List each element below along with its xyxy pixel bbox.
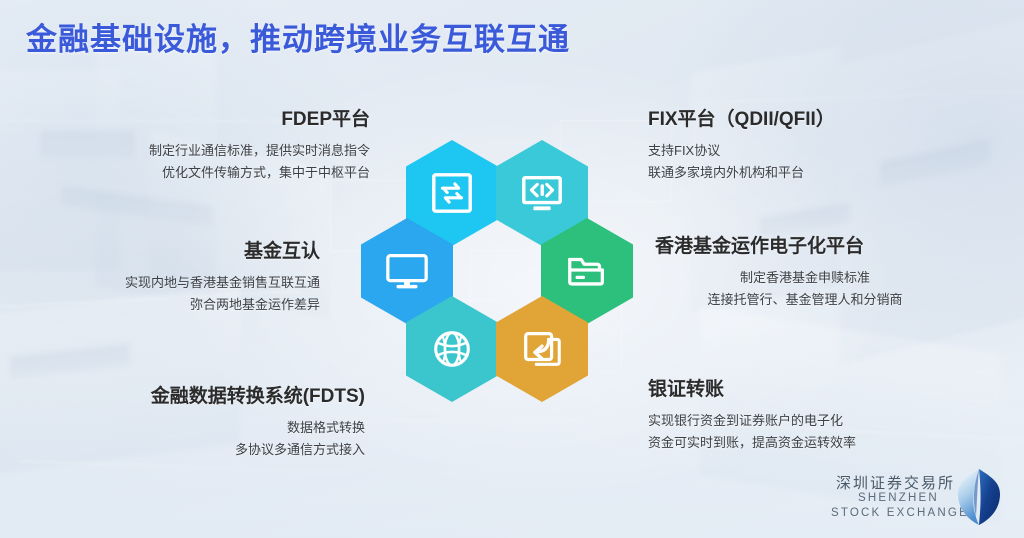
feature-title: FIX平台（QDII/QFII） <box>648 108 978 133</box>
feature-line: 资金可实时到账，提高资金运转效率 <box>648 432 978 455</box>
feature-line: 数据格式转换 <box>40 417 365 440</box>
feature-line: 实现银行资金到证券账户的电子化 <box>648 410 978 433</box>
feature-line: 弥合两地基金运作差异 <box>40 294 320 317</box>
transfer-in-icon <box>519 326 565 372</box>
slide-canvas: 金融基础设施，推动跨境业务互联互通 FDEP平台 制定行业通信标准，提供实时消息… <box>0 0 1024 538</box>
slide-title: 金融基础设施，推动跨境业务互联互通 <box>26 14 570 59</box>
code-monitor-icon <box>519 170 565 216</box>
feature-title: 香港基金运作电子化平台 <box>655 235 955 260</box>
desktop-monitor-icon <box>384 248 430 294</box>
feature-line: 支持FIX协议 <box>648 140 978 163</box>
feature-line: 多协议多通信方式接入 <box>40 439 365 462</box>
feature-block-fdts: 金融数据转换系统(FDTS) 数据格式转换 多协议多通信方式接入 <box>40 385 365 462</box>
hexagon-cluster <box>358 140 658 430</box>
hexagon-bank-transfer[interactable] <box>496 296 588 402</box>
feature-line: 连接托管行、基金管理人和分销商 <box>655 289 955 312</box>
exchange-arrows-icon <box>429 170 475 216</box>
feature-line: 实现内地与香港基金销售互联互通 <box>40 272 320 295</box>
szse-logo-mark-icon <box>956 468 1002 526</box>
feature-line: 联通多家境内外机构和平台 <box>648 162 978 185</box>
feature-block-fdep: FDEP平台 制定行业通信标准，提供实时消息指令 优化文件传输方式，集中于中枢平… <box>40 108 370 185</box>
feature-title: 基金互认 <box>40 240 320 265</box>
folder-file-icon <box>564 248 610 294</box>
feature-block-bank-transfer: 银证转账 实现银行资金到证券账户的电子化 资金可实时到账，提高资金运转效率 <box>648 378 978 455</box>
feature-title: 银证转账 <box>648 378 978 403</box>
feature-title: 金融数据转换系统(FDTS) <box>40 385 365 410</box>
feature-line: 制定行业通信标准，提供实时消息指令 <box>40 140 370 163</box>
szse-logo: 深圳证券交易所 SHENZHEN STOCK EXCHANGE <box>828 470 1008 532</box>
logo-name-en-line2: STOCK EXCHANGE <box>831 507 969 519</box>
feature-block-fix: FIX平台（QDII/QFII） 支持FIX协议 联通多家境内外机构和平台 <box>648 108 978 185</box>
logo-name-en-line1: SHENZHEN <box>858 492 939 504</box>
feature-block-fund: 基金互认 实现内地与香港基金销售互联互通 弥合两地基金运作差异 <box>40 240 320 317</box>
globe-network-icon <box>429 326 475 372</box>
feature-line: 制定香港基金申赎标准 <box>655 267 955 290</box>
feature-title: FDEP平台 <box>40 108 370 133</box>
feature-block-hk-fund-platform: 香港基金运作电子化平台 制定香港基金申赎标准 连接托管行、基金管理人和分销商 <box>655 235 955 312</box>
logo-name-cn: 深圳证券交易所 <box>836 472 955 493</box>
hexagon-fdts[interactable] <box>406 296 498 402</box>
feature-line: 优化文件传输方式，集中于中枢平台 <box>40 162 370 185</box>
